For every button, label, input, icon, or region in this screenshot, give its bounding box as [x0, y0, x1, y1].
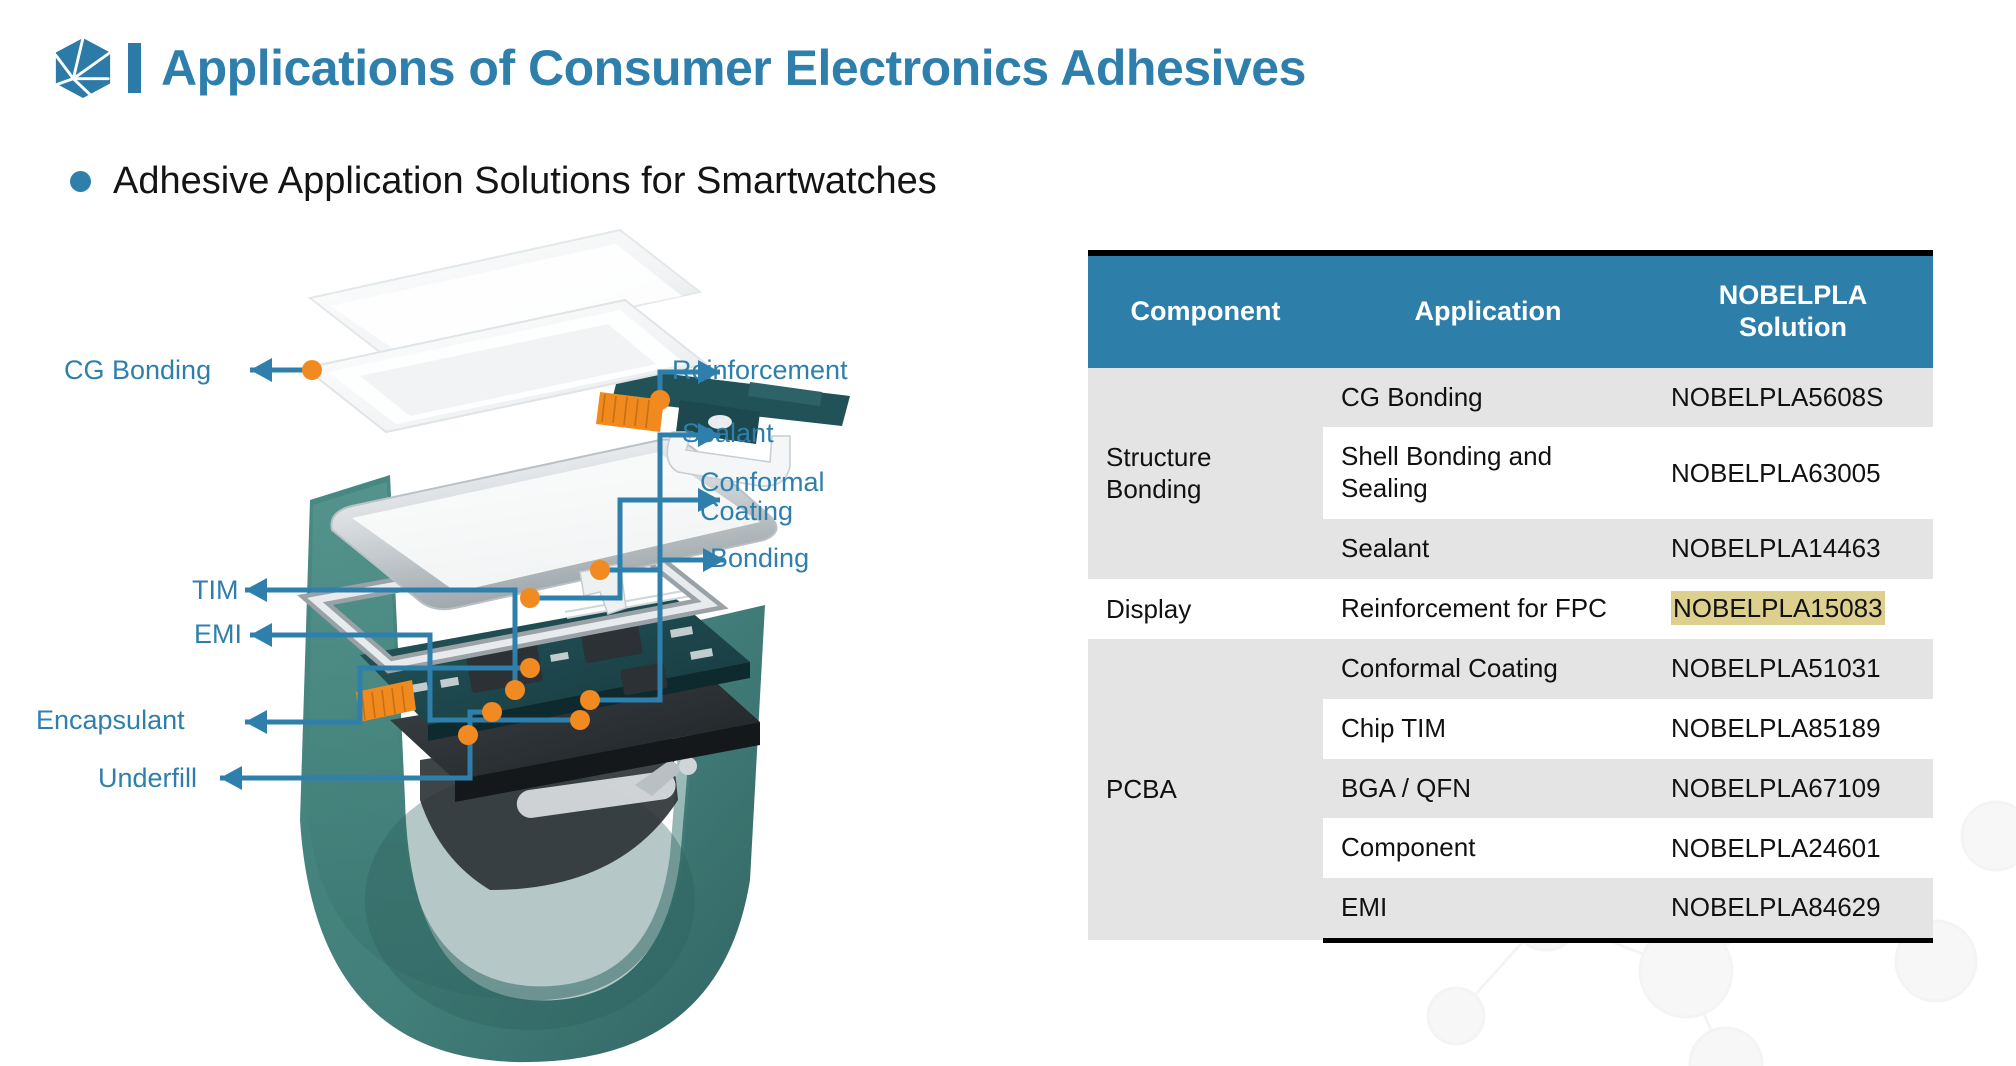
application-cell: Conformal Coating	[1323, 639, 1653, 699]
solution-cell: NOBELPLA14463	[1653, 519, 1933, 579]
application-cell: Component	[1323, 818, 1653, 878]
application-cell: Reinforcement for FPC	[1323, 579, 1653, 640]
label-sealant: Sealant	[682, 419, 774, 448]
solution-cell: NOBELPLA85189	[1653, 699, 1933, 759]
th-nobelpla-solution: NOBELPLA Solution	[1653, 253, 1933, 368]
th-line-1: NOBELPLA	[1719, 280, 1868, 310]
solution-cell: NOBELPLA63005	[1653, 427, 1933, 518]
table-body: Structure Bonding CG Bonding NOBELPLA560…	[1088, 368, 1933, 940]
group-cell-display: Display	[1088, 579, 1323, 640]
hexagon-shard-logo-icon	[52, 36, 114, 100]
subtitle-text: Adhesive Application Solutions for Smart…	[113, 160, 937, 203]
page-header: Applications of Consumer Electronics Adh…	[52, 36, 1306, 100]
solutions-table: Component Application NOBELPLA Solution …	[1088, 250, 1933, 943]
page-title: Applications of Consumer Electronics Adh…	[161, 43, 1306, 93]
slide-root: Applications of Consumer Electronics Adh…	[0, 0, 2016, 1066]
group-cell-pcba: PCBA	[1088, 639, 1323, 940]
application-cell: BGA / QFN	[1323, 759, 1653, 819]
solution-cell: NOBELPLA51031	[1653, 639, 1933, 699]
bullet-dot-icon	[70, 171, 91, 192]
table-header-row: Component Application NOBELPLA Solution	[1088, 253, 1933, 368]
application-cell: Chip TIM	[1323, 699, 1653, 759]
label-emi: EMI	[194, 620, 242, 649]
table-head: Component Application NOBELPLA Solution	[1088, 253, 1933, 368]
highlighted-solution: NOBELPLA15083	[1671, 591, 1885, 625]
label-conformal-coating: Conformal Coating	[700, 468, 860, 526]
application-cell: Sealant	[1323, 519, 1653, 579]
solution-cell: NOBELPLA67109	[1653, 759, 1933, 819]
solution-cell: NOBELPLA24601	[1653, 818, 1933, 878]
th-component: Component	[1088, 253, 1323, 368]
label-encapsulant: Encapsulant	[36, 706, 185, 735]
title-accent-bar	[128, 43, 141, 93]
label-bonding: Bonding	[710, 544, 809, 573]
solution-cell: NOBELPLA5608S	[1653, 368, 1933, 428]
solution-cell: NOBELPLA15083	[1653, 579, 1933, 640]
application-cell: Shell Bonding and Sealing	[1323, 427, 1653, 518]
th-line-2: Solution	[1739, 312, 1847, 342]
table-row: PCBA Conformal Coating NOBELPLA51031	[1088, 639, 1933, 699]
table-row: Display Reinforcement for FPC NOBELPLA15…	[1088, 579, 1933, 640]
table-row: Structure Bonding CG Bonding NOBELPLA560…	[1088, 368, 1933, 428]
solution-cell: NOBELPLA84629	[1653, 878, 1933, 940]
application-cell: EMI	[1323, 878, 1653, 940]
smartwatch-illustration-svg	[60, 200, 900, 1066]
label-tim: TIM	[192, 576, 239, 605]
group-cell-structure-bonding: Structure Bonding	[1088, 368, 1323, 579]
solutions-table-wrapper: Component Application NOBELPLA Solution …	[1088, 250, 1933, 943]
subtitle-row: Adhesive Application Solutions for Smart…	[70, 160, 937, 203]
label-underfill: Underfill	[98, 764, 197, 793]
smartwatch-exploded-diagram: CG Bonding TIM EMI Encapsulant Underfill…	[60, 200, 900, 1066]
th-application: Application	[1323, 253, 1653, 368]
application-cell: CG Bonding	[1323, 368, 1653, 428]
label-reinforcement: Reinforcement	[672, 356, 848, 385]
label-cg-bonding: CG Bonding	[64, 356, 211, 385]
